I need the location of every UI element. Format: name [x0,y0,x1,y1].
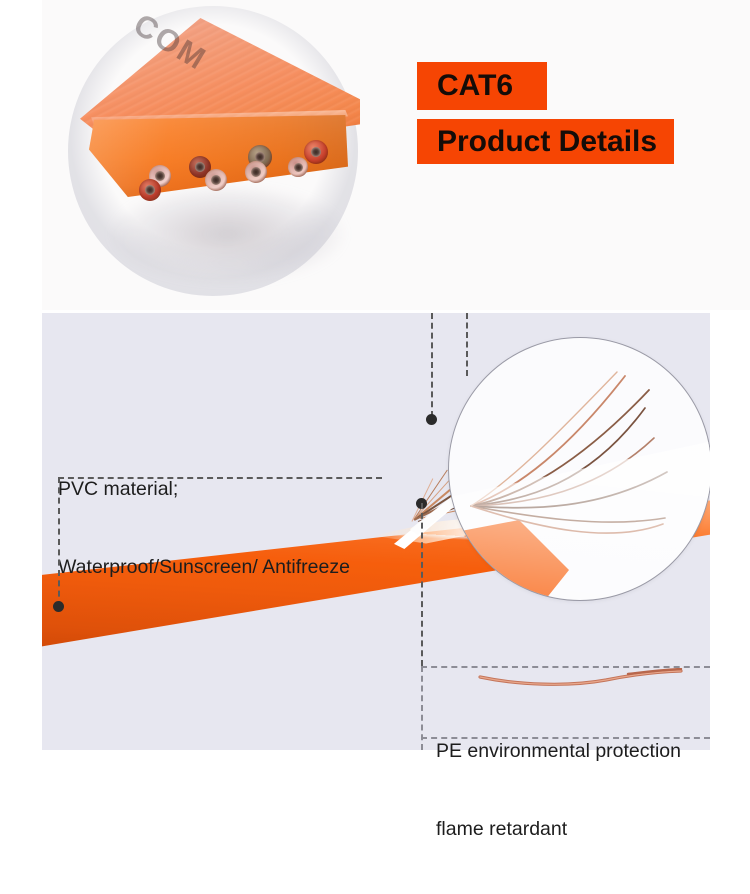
magnified-strand-group [449,338,710,601]
conductor-core-4 [211,175,221,185]
banner-product-details: Product Details [417,119,674,164]
conductor-core-6 [251,167,261,177]
top-panel: COM CAT6 Product Details [42,0,750,310]
callout-pvc-underline [58,477,382,479]
callout-pe-line1: PE environmental protection [436,738,681,764]
callout-pvc-dot [53,601,64,612]
callout-pe-line2: flame retardant [436,816,681,842]
banner-product-details-label: Product Details [437,125,657,159]
callout-pvc-line1: PVC material; [58,476,350,502]
callout-pvc-line2: Waterproof/Sunscreen/ Antifreeze [58,554,350,580]
callout-pe-text: PE environmental protection flame retard… [436,686,681,894]
callout-pvc-leader-line [58,477,60,607]
magnified-strand-8 [471,372,617,506]
magnified-copper-strands [448,337,710,601]
product-detail-image: COM CAT6 Product Details [0,0,750,750]
conductor-core-1 [155,171,165,181]
cat6-cable-cross-section-photo: COM [80,18,362,248]
magnifier-leader-line-top [466,313,468,376]
magnified-strand-4 [471,438,654,506]
magnifier-leader-dot-upper [426,414,437,425]
conductor-core-7 [294,163,303,172]
callout-pvc-text: PVC material; Waterproof/Sunscreen/ Anti… [58,424,350,632]
magnified-strand-3 [471,408,645,506]
banner-cat6-label: CAT6 [437,69,513,103]
conductor-core-3 [195,162,205,172]
callout-pe-leader-line [421,503,423,666]
magnified-strand-paths [449,338,710,600]
magnified-strand-6 [471,506,665,522]
callout-pe-top-line [421,666,710,668]
magnified-strand-1 [471,376,625,506]
magnifier-leader-line-upper [431,313,433,417]
banner-cat6: CAT6 [417,62,547,110]
conductor-core-2 [145,185,155,195]
